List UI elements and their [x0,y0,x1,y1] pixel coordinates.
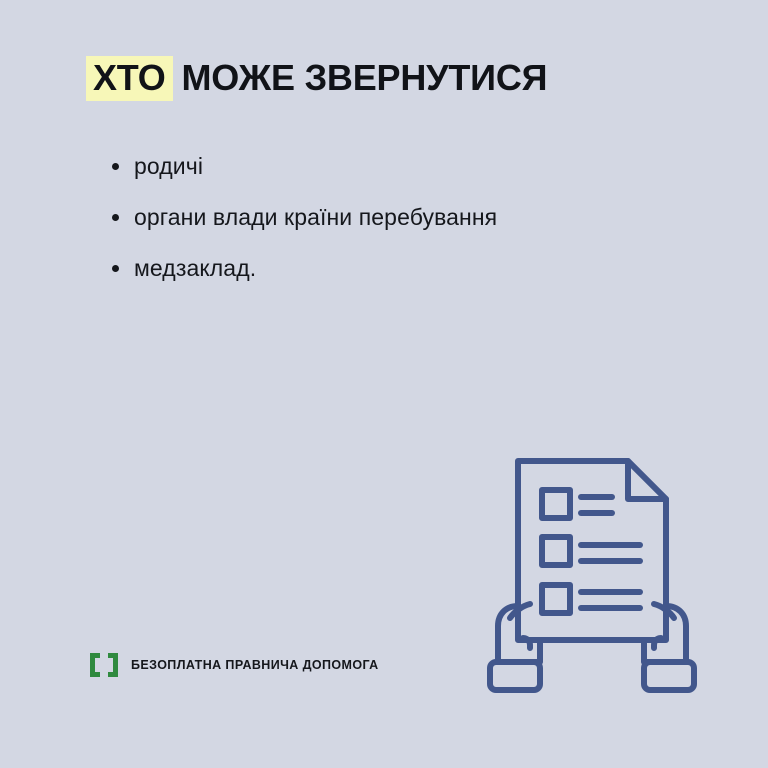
list-item-label: родичі [134,152,203,182]
list-item: органи влади країни перебування [112,203,497,233]
page-title: ХТО МОЖЕ ЗВЕРНУТИСЯ [86,56,547,101]
list-item-label: органи влади країни перебування [134,203,497,233]
title-highlight-word: ХТО [86,56,173,101]
organization-logo: БЕЗОПЛАТНА ПРАВНИЧА ДОПОМОГА [88,652,379,678]
left-hand-cuff [490,662,540,690]
eligibility-list: родичі органи влади країни перебування м… [112,152,497,305]
title-rest-text: МОЖЕ ЗВЕРНУТИСЯ [182,60,548,96]
bullet-dot-icon [112,214,119,221]
list-item-label: медзаклад. [134,254,256,284]
list-item: медзаклад. [112,254,497,284]
brackets-icon [88,652,120,678]
hands-holding-checklist-document-icon [480,440,710,700]
bullet-dot-icon [112,265,119,272]
bullet-dot-icon [112,163,119,170]
logo-wordmark: БЕЗОПЛАТНА ПРАВНИЧА ДОПОМОГА [131,658,379,672]
poster-card: ХТО МОЖЕ ЗВЕРНУТИСЯ родичі органи влади … [0,0,768,768]
list-item: родичі [112,152,497,182]
right-hand-cuff [644,662,694,690]
